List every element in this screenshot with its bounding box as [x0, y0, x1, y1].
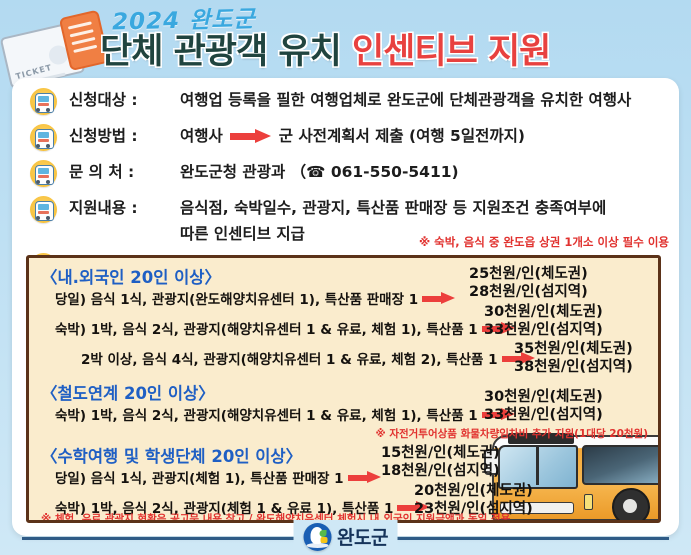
bus-bullet-icon — [30, 160, 57, 187]
condition-row: 숙박) 1박, 음식 2식, 관광지(해양치유센터 1 & 유료, 체험 1),… — [55, 404, 520, 424]
condition-price: 25천원/인(체도권) 28천원/인(섬지역) — [469, 265, 588, 301]
bus-bullet-icon — [30, 88, 57, 115]
info-value-method: 여행사 군 사전계획서 제출 (여행 5일전까지) — [180, 124, 525, 146]
condition-row: 2박 이상, 음식 4식, 관광지(해양치유센터 1 & 유료, 체험 2), … — [81, 348, 540, 368]
condition-desc: 당일) 음식 1식, 관광지(체험 1), 특산품 판매장 1 — [55, 467, 344, 487]
price-line: 15천원/인(체도권) — [381, 444, 500, 462]
price-line: 33천원/인(섬지역) — [484, 406, 603, 424]
bus-bullet-icon — [30, 196, 57, 223]
price-line: 30천원/인(체도권) — [484, 303, 603, 321]
method-to: 군 사전계획서 제출 (여행 5일전까지) — [279, 124, 525, 146]
info-value-support-line1: 음식점, 숙박일수, 관광지, 특산품 판매장 등 지원조건 충족여부에 — [180, 196, 606, 218]
conditions-box: 〈내.외국인 20인 이상〉 당일) 음식 1식, 관광지(완도해양치유센터 1… — [26, 255, 661, 523]
price-line: 30천원/인(체도권) — [484, 388, 603, 406]
price-line: 18천원/인(섬지역) — [381, 462, 500, 480]
condition-row: 당일) 음식 1식, 관광지(체험 1), 특산품 판매장 1 — [55, 467, 386, 487]
condition-price: 15천원/인(체도권) 18천원/인(섬지역) — [381, 444, 500, 480]
right-arrow-icon — [230, 130, 272, 141]
section-title-foreign: 〈내.외국인 20인 이상〉 — [41, 264, 221, 288]
condition-desc: 2박 이상, 음식 4식, 관광지(해양치유센터 1 & 유료, 체험 2), … — [81, 348, 498, 368]
price-line: 35천원/인(체도권) — [514, 340, 633, 358]
condition-row: 당일) 음식 1식, 관광지(완도해양치유센터 1), 특산품 판매장 1 — [55, 288, 460, 308]
info-label-method: 신청방법 : — [69, 124, 164, 146]
section-title-rail: 〈철도연계 20인 이상〉 — [41, 380, 215, 404]
condition-price: 30천원/인(체도권) 33천원/인(섬지역) — [484, 303, 603, 339]
top-note: ※ 숙박, 음식 중 완도읍 상권 1개소 이상 필수 이용 — [419, 234, 669, 250]
condition-desc: 당일) 음식 1식, 관광지(완도해양치유센터 1), 특산품 판매장 1 — [55, 288, 418, 308]
section-title-school: 〈수학여행 및 학생단체 20인 이상〉 — [41, 443, 302, 467]
page-title: 단체 관광객 유치 인센티브 지원 — [100, 23, 550, 74]
price-line: 20천원/인(체도권) — [414, 482, 533, 500]
condition-row: 숙박) 1박, 음식 2식, 관광지(해양치유센터 1 & 유료, 체험 1),… — [55, 318, 520, 338]
info-value-target: 여행업 등록을 필한 여행업체로 완도군에 단체관광객을 유치한 여행사 — [180, 88, 631, 110]
info-row-target: 신청대상 : 여행업 등록을 필한 여행업체로 완도군에 단체관광객을 유치한 … — [30, 88, 631, 115]
price-line: 33천원/인(섬지역) — [484, 321, 603, 339]
wando-logo-text: 완도군 — [337, 523, 388, 550]
info-row-method: 신청방법 : 여행사 군 사전계획서 제출 (여행 5일전까지) — [30, 124, 525, 151]
method-from: 여행사 — [180, 124, 223, 146]
info-row-contact: 문 의 처 : 완도군청 관광과 （☎ 061-550-5411) — [30, 160, 459, 187]
price-line: 25천원/인(체도권) — [469, 265, 588, 283]
right-arrow-icon — [422, 294, 456, 303]
bus-bullet-icon — [30, 124, 57, 151]
page-title-dark: 단체 관광객 유치 — [100, 32, 341, 72]
condition-price: 30천원/인(체도권) 33천원/인(섬지역) — [484, 388, 603, 424]
info-value-contact: 완도군청 관광과 （☎ 061-550-5411) — [180, 160, 459, 182]
poster-root: TICKET 2024 완도군 단체 관광객 유치 인센티브 지원 신청대상 :… — [0, 0, 691, 555]
info-label-support: 지원내용 : — [69, 196, 164, 218]
right-arrow-icon — [348, 473, 382, 482]
condition-price: 35천원/인(체도권) 38천원/인(섬지역) — [514, 340, 633, 376]
price-line: 38천원/인(섬지역) — [514, 358, 633, 376]
info-label-contact: 문 의 처 : — [69, 160, 164, 182]
page-title-red: 인센티브 지원 — [352, 32, 550, 72]
wando-logo: 완도군 — [293, 520, 398, 553]
price-line: 28천원/인(섬지역) — [469, 283, 588, 301]
poster-header: TICKET 2024 완도군 단체 관광객 유치 인센티브 지원 — [0, 0, 691, 80]
condition-desc: 숙박) 1박, 음식 2식, 관광지(해양치유센터 1 & 유료, 체험 1),… — [55, 318, 478, 338]
poster-footer: 완도군 — [0, 520, 691, 555]
condition-desc: 숙박) 1박, 음식 2식, 관광지(해양치유센터 1 & 유료, 체험 1),… — [55, 404, 478, 424]
section-note-rail: ※ 자전거투어상품 화물차량임차비 추가 지원(1대당 20천원) — [375, 426, 648, 441]
wando-emblem-icon — [303, 523, 331, 551]
info-label-target: 신청대상 : — [69, 88, 164, 110]
